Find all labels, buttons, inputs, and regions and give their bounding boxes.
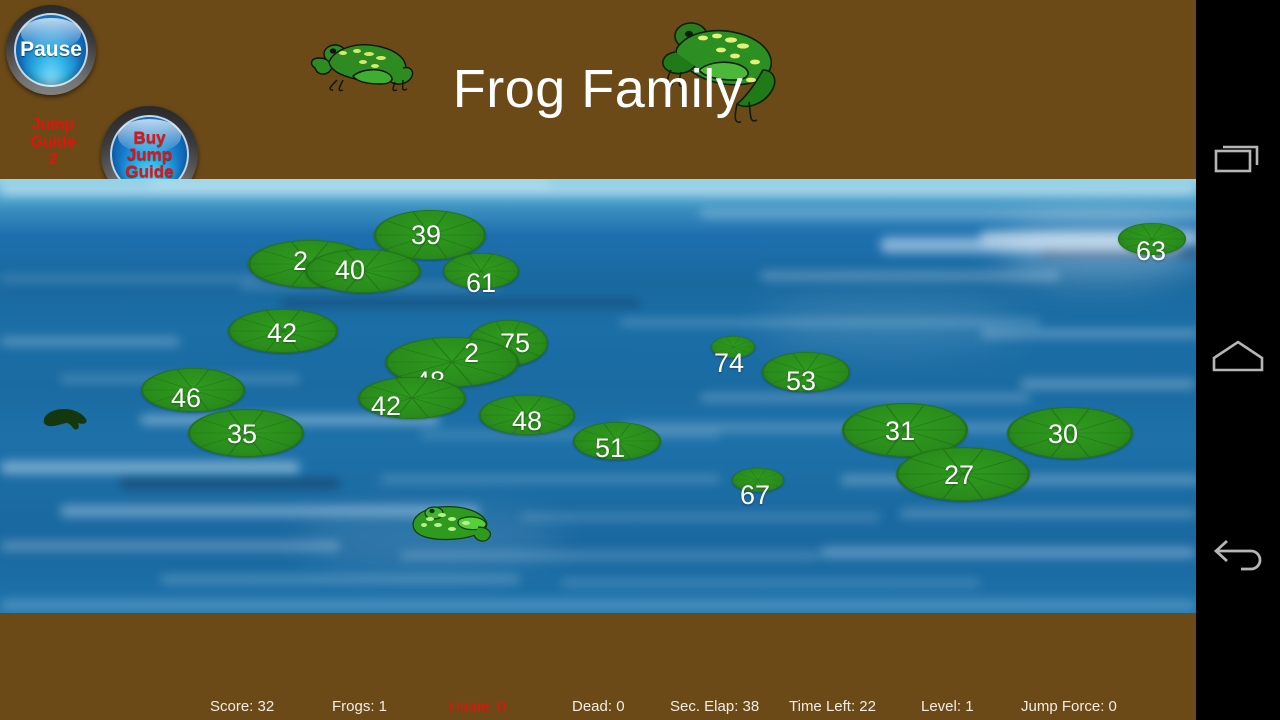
- nav-back-button[interactable]: [1196, 513, 1280, 597]
- buy-jump-guide-button-label: Buy Jump Guide: [125, 129, 173, 181]
- screen-root: Frog Family Pause Jump Guide 2 Buy Jump …: [0, 0, 1280, 720]
- water-streak: [620, 423, 1040, 432]
- water-streak: [1020, 379, 1196, 389]
- pause-button-label: Pause: [20, 39, 82, 60]
- status-sec-elap: Sec. Elap: 38: [670, 698, 759, 715]
- lily-pad-number: 46: [171, 385, 201, 412]
- water-streak: [400, 551, 820, 560]
- lily-pad-number: 27: [944, 462, 974, 489]
- status-home: Home: 0: [449, 698, 506, 715]
- water-streak: [0, 599, 1196, 611]
- lily-pad-number: 30: [1048, 421, 1078, 448]
- water-streak: [900, 509, 1196, 518]
- lily-pad-number: 48: [512, 408, 542, 435]
- status-frogs: Frogs: 1: [332, 698, 387, 715]
- jump-guide-counter-line-3: 2: [20, 151, 86, 169]
- water-streak: [700, 393, 1030, 402]
- page-title: Frog Family: [0, 62, 1196, 116]
- water-streak: [0, 185, 1196, 195]
- pause-button[interactable]: Pause: [6, 5, 96, 95]
- status-level: Level: 1: [921, 698, 974, 715]
- lily-pad-number: 35: [227, 421, 257, 448]
- lily-pad-number: 42: [267, 320, 297, 347]
- buy-label-line-1: Buy: [125, 129, 173, 146]
- lily-pad-number: 40: [335, 257, 365, 284]
- water-bloom: [760, 299, 1020, 349]
- status-bar: Score: 32 Frogs: 1 Home: 0 Dead: 0 Sec. …: [0, 690, 1196, 720]
- pond-playfield[interactable]: 3924061634275487453464235485131302767: [0, 179, 1196, 613]
- lily-pad-number: 61: [466, 270, 496, 297]
- water-streak: [0, 461, 300, 474]
- jump-guide-counter: Jump Guide 2: [20, 116, 86, 169]
- lily-pad-number: 51: [595, 435, 625, 462]
- player-frog-sprite[interactable]: [408, 501, 494, 545]
- water-streak: [520, 513, 880, 521]
- lily-pad-number: 39: [411, 222, 441, 249]
- status-dead: Dead: 0: [572, 698, 625, 715]
- lily-pad-number: 42: [371, 393, 401, 420]
- frog-silhouette-icon[interactable]: [40, 403, 92, 433]
- water-streak: [380, 475, 720, 483]
- home-icon: [1211, 339, 1265, 373]
- buy-label-line-3: Guide: [125, 163, 173, 180]
- back-icon: [1211, 535, 1265, 575]
- nav-recents-button[interactable]: [1196, 117, 1280, 201]
- water-streak: [0, 337, 180, 346]
- lily-pad-number: 53: [786, 368, 816, 395]
- lily-pad-number: 31: [885, 418, 915, 445]
- water-streak: [280, 299, 640, 307]
- nav-home-button[interactable]: [1196, 314, 1280, 398]
- water-streak: [0, 541, 340, 551]
- recents-icon: [1213, 139, 1263, 179]
- water-streak: [150, 181, 550, 187]
- jump-guide-counter-line-2: Guide: [20, 134, 86, 152]
- lily-pad-number: 67: [740, 482, 770, 509]
- water-streak: [120, 479, 340, 488]
- game-area: Frog Family Pause Jump Guide 2 Buy Jump …: [0, 0, 1196, 720]
- water-streak: [700, 209, 1196, 218]
- player-frog-number: 2: [464, 340, 479, 367]
- water-streak: [160, 575, 520, 584]
- water-streak: [620, 319, 1040, 326]
- water-streak: [560, 579, 980, 587]
- status-time-left: Time Left: 22: [789, 698, 876, 715]
- water-streak: [0, 275, 260, 282]
- water-streak: [980, 329, 1196, 338]
- buy-label-line-2: Jump: [125, 146, 173, 163]
- water-streak: [760, 271, 1060, 281]
- android-nav-bar: [1196, 0, 1280, 720]
- status-score: Score: 32: [210, 698, 274, 715]
- lily-pad-number: 74: [714, 350, 744, 377]
- lily-pad-number: 63: [1136, 238, 1166, 265]
- water-streak: [820, 547, 1196, 558]
- jump-guide-counter-line-1: Jump: [20, 116, 86, 134]
- status-jump-force: Jump Force: 0: [1021, 698, 1117, 715]
